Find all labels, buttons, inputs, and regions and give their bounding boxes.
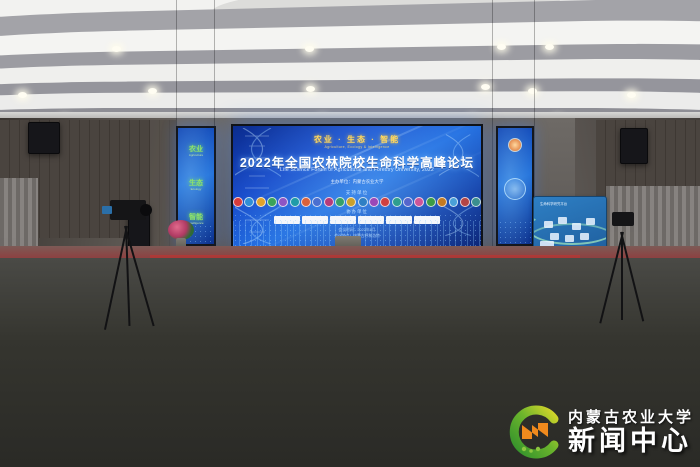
supporter-logo-8 xyxy=(324,197,334,207)
supporter-logo-7 xyxy=(312,197,322,207)
supporter-logo-0 xyxy=(233,197,243,207)
supporter-logo-17 xyxy=(426,197,436,207)
supporter-logo-18 xyxy=(437,197,447,207)
speaker-right xyxy=(620,128,648,164)
ceiling-downlight xyxy=(148,88,157,94)
supporter-logo-13 xyxy=(380,197,390,207)
video-camera-left-lens xyxy=(140,204,152,216)
supporter-logo-11 xyxy=(358,197,368,207)
ceiling-downlight xyxy=(305,46,314,52)
supporter-logo-20 xyxy=(460,197,470,207)
supporter-logo-16 xyxy=(414,197,424,207)
ceiling-downlight xyxy=(497,44,506,50)
main-led-screen: 农业 · 生态 · 智能 Agriculture, Ecology & Inte… xyxy=(231,124,483,249)
supporter-logo-2 xyxy=(256,197,266,207)
camera-tripod-left xyxy=(96,200,156,330)
ceiling-downlight xyxy=(112,46,121,52)
screen-section-supporters: 支持单位 xyxy=(233,190,481,196)
speaker-left xyxy=(28,122,60,154)
screen-right-banner xyxy=(496,126,534,246)
conference-hall-photo: 农业 Agriculture 生态 Ecology 智能 Intelligenc… xyxy=(0,0,700,467)
supporter-logo-1 xyxy=(244,197,254,207)
supporter-logo-6 xyxy=(301,197,311,207)
ceiling-downlight xyxy=(306,86,315,92)
ceiling xyxy=(0,0,700,126)
supporter-logo-10 xyxy=(346,197,356,207)
globe-icon xyxy=(504,178,526,200)
supporter-logo-21 xyxy=(471,197,481,207)
ceiling-downlight xyxy=(18,92,27,98)
screen-host-label: 主办单位：内蒙古农业大学 xyxy=(233,179,481,185)
left-banner-word-en-0: Agriculture xyxy=(178,153,214,157)
watermark-line-2: 新闻中心 xyxy=(568,428,694,455)
bird-icon xyxy=(508,138,522,152)
supporter-logo-12 xyxy=(369,197,379,207)
video-camera-left-screen xyxy=(102,206,112,214)
screen-title-en: Life Science Forum of Agricultural and F… xyxy=(233,167,481,173)
ceiling-downlight xyxy=(481,84,490,90)
screen-tagline-en: Agriculture, Ecology & Intelligence xyxy=(233,145,481,149)
screen-tagline-cn: 农业 · 生态 · 智能 xyxy=(233,134,481,145)
ceiling-downlight xyxy=(528,88,537,94)
supporter-logo-9 xyxy=(335,197,345,207)
imau-news-center-logo xyxy=(504,403,562,461)
left-banner-word-en-1: Ecology xyxy=(178,187,214,191)
poster-header: 生命科学研究平台 xyxy=(540,201,567,206)
ceiling-downlight xyxy=(627,92,636,98)
supporter-logo-4 xyxy=(278,197,288,207)
supporter-logo-15 xyxy=(403,197,413,207)
ceiling-downlight xyxy=(545,44,554,50)
screen-supporter-logos xyxy=(233,197,481,207)
watermark-line-1: 内蒙古农业大学 xyxy=(568,410,694,425)
supporter-logo-14 xyxy=(392,197,402,207)
supporter-logo-19 xyxy=(449,197,459,207)
watermark: 内蒙古农业大学 新闻中心 xyxy=(504,403,694,461)
supporter-logo-5 xyxy=(290,197,300,207)
video-camera-right-body xyxy=(612,212,634,226)
camera-tripod-right xyxy=(604,212,644,332)
flower-arrangement xyxy=(168,220,194,240)
supporter-logo-3 xyxy=(267,197,277,207)
